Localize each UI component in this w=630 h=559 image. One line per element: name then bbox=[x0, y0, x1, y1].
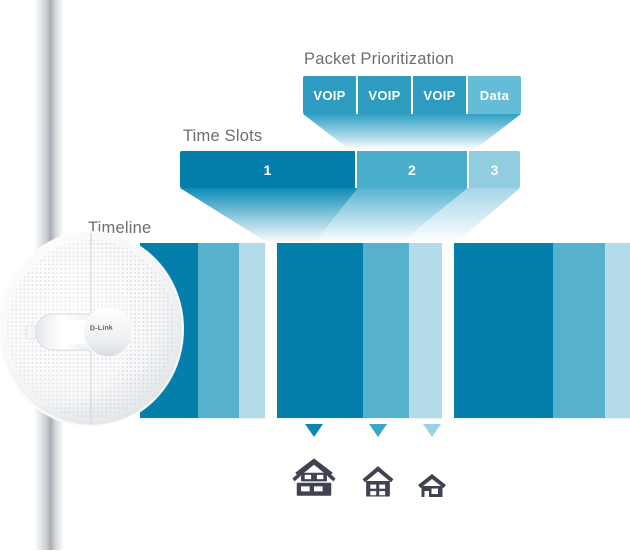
packet-prioritization-label: Packet Prioritization bbox=[304, 50, 454, 69]
house-large-icon bbox=[291, 454, 337, 505]
timeline-band-2 bbox=[363, 243, 409, 418]
down-arrow-icon-2 bbox=[369, 424, 387, 437]
packet-cell-voip-2: VOIP bbox=[358, 76, 413, 114]
timeline-bars bbox=[140, 243, 630, 418]
time-slot-1: 1 bbox=[180, 151, 357, 188]
timeline-band-3 bbox=[409, 243, 442, 418]
time-slot-3: 3 bbox=[469, 151, 520, 188]
diagram-canvas: 123 VOIPVOIPVOIPData Packet Prioritizati… bbox=[0, 0, 630, 559]
down-arrow-icon-1 bbox=[305, 424, 323, 437]
timeline-group-2 bbox=[277, 243, 442, 418]
time-slots-label: Time Slots bbox=[183, 127, 262, 146]
dlink-logo: D-Link bbox=[90, 325, 113, 333]
packet-cell-label: Data bbox=[480, 88, 509, 103]
house-medium-icon bbox=[359, 462, 397, 505]
packet-cell-voip-3: VOIP bbox=[413, 76, 468, 114]
down-arrow-icon-3 bbox=[423, 424, 441, 437]
funnel-slots-to-timeline bbox=[168, 188, 532, 243]
packet-cell-label: VOIP bbox=[368, 88, 400, 103]
timeline-band-2 bbox=[553, 243, 605, 418]
timeline-band-1 bbox=[454, 243, 553, 418]
timeline-band-2 bbox=[198, 243, 239, 418]
timeline-band-1 bbox=[277, 243, 363, 418]
time-slot-label: 3 bbox=[491, 162, 499, 178]
time-slots-bar: 123 bbox=[180, 151, 520, 188]
client-markers bbox=[270, 424, 490, 504]
funnel-packets-to-slots bbox=[290, 114, 534, 150]
timeline-group-3 bbox=[454, 243, 630, 418]
time-slot-2: 2 bbox=[357, 151, 469, 188]
timeline-band-3 bbox=[239, 243, 265, 418]
packet-cell-voip-1: VOIP bbox=[303, 76, 358, 114]
packet-prioritization-bar: VOIPVOIPVOIPData bbox=[303, 76, 521, 114]
time-slot-label: 1 bbox=[264, 162, 272, 178]
time-slot-label: 2 bbox=[408, 162, 416, 178]
packet-cell-label: VOIP bbox=[313, 88, 345, 103]
timeline-band-3 bbox=[605, 243, 630, 418]
packet-cell-data-4: Data bbox=[468, 76, 521, 114]
packet-cell-label: VOIP bbox=[423, 88, 455, 103]
house-small-icon bbox=[416, 468, 448, 505]
